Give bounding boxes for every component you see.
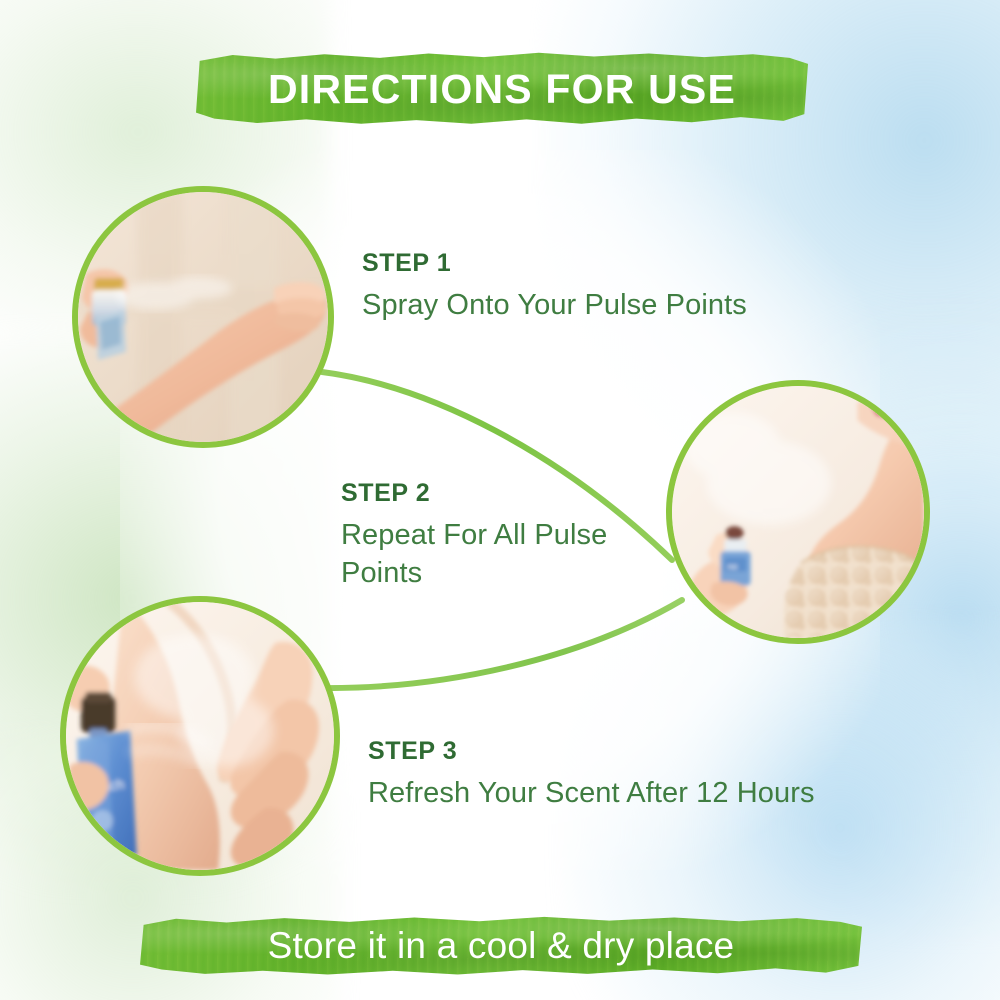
step-1-text-block: STEP 1 Spray Onto Your Pulse Points	[362, 250, 842, 324]
step-1-photo-image	[78, 192, 328, 442]
storage-note-banner: Store it in a cool & dry place	[140, 915, 862, 977]
title-banner: DIRECTIONS FOR USE	[196, 52, 808, 126]
svg-text:no: no	[727, 561, 737, 571]
storage-note: Store it in a cool & dry place	[268, 925, 735, 967]
step-3-title: STEP 3	[368, 738, 868, 766]
step-3-text-block: STEP 3 Refresh Your Scent After 12 Hours	[368, 738, 868, 812]
connector-step3-to-step2	[316, 600, 682, 688]
spray-onto-wrist-illustration	[78, 192, 328, 442]
refresh-scent-illustration: Beach	[66, 602, 334, 870]
spray-onto-neck-illustration: no	[672, 386, 924, 638]
page-title: DIRECTIONS FOR USE	[268, 66, 736, 113]
infographic-canvas: DIRECTIONS FOR USE	[0, 0, 1000, 1000]
step-2-title: STEP 2	[341, 480, 661, 508]
step-2-description: Repeat For All Pulse Points	[341, 516, 661, 594]
step-1-title: STEP 1	[362, 250, 842, 278]
step-3-photo: Beach	[60, 596, 340, 876]
step-3-description: Refresh Your Scent After 12 Hours	[368, 774, 868, 813]
step-2-photo-image: no	[672, 386, 924, 638]
step-2-description-line-2: Points	[341, 557, 422, 589]
step-2-photo: no	[666, 380, 930, 644]
step-1-photo	[72, 186, 334, 448]
step-1-description: Spray Onto Your Pulse Points	[362, 286, 842, 325]
step-2-text-block: STEP 2 Repeat For All Pulse Points	[341, 480, 661, 593]
step-3-photo-image: Beach	[66, 602, 334, 870]
step-2-description-line-1: Repeat For All Pulse	[341, 519, 607, 551]
